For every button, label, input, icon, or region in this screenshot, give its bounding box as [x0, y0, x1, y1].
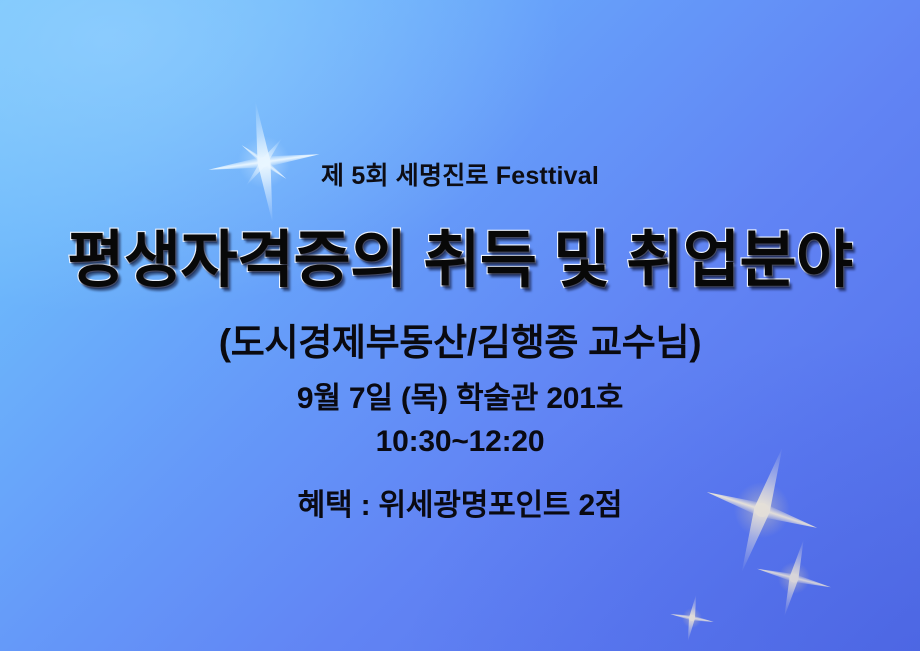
event-details: 9월 7일 (목) 학술관 201호 10:30~12:20 혜택 : 위세광명…: [0, 378, 920, 528]
page-title: 평생자격증의 취득 및 취업분야: [0, 228, 920, 293]
detail-date-venue: 9월 7일 (목) 학술관 201호: [0, 378, 920, 421]
poster-canvas: 제 5회 세명진로 Festtival 평생자격증의 취득 및 취업분야 (도시…: [0, 0, 920, 651]
detail-benefit: 혜택 : 위세광명포인트 2점: [0, 485, 920, 528]
presenter-line: (도시경제부동산/김행종 교수님): [0, 312, 920, 366]
poster-content: 제 5회 세명진로 Festtival 평생자격증의 취득 및 취업분야 (도시…: [0, 0, 920, 651]
detail-time: 10:30~12:20: [0, 421, 920, 464]
event-subtitle: 제 5회 세명진로 Festtival: [0, 156, 920, 192]
